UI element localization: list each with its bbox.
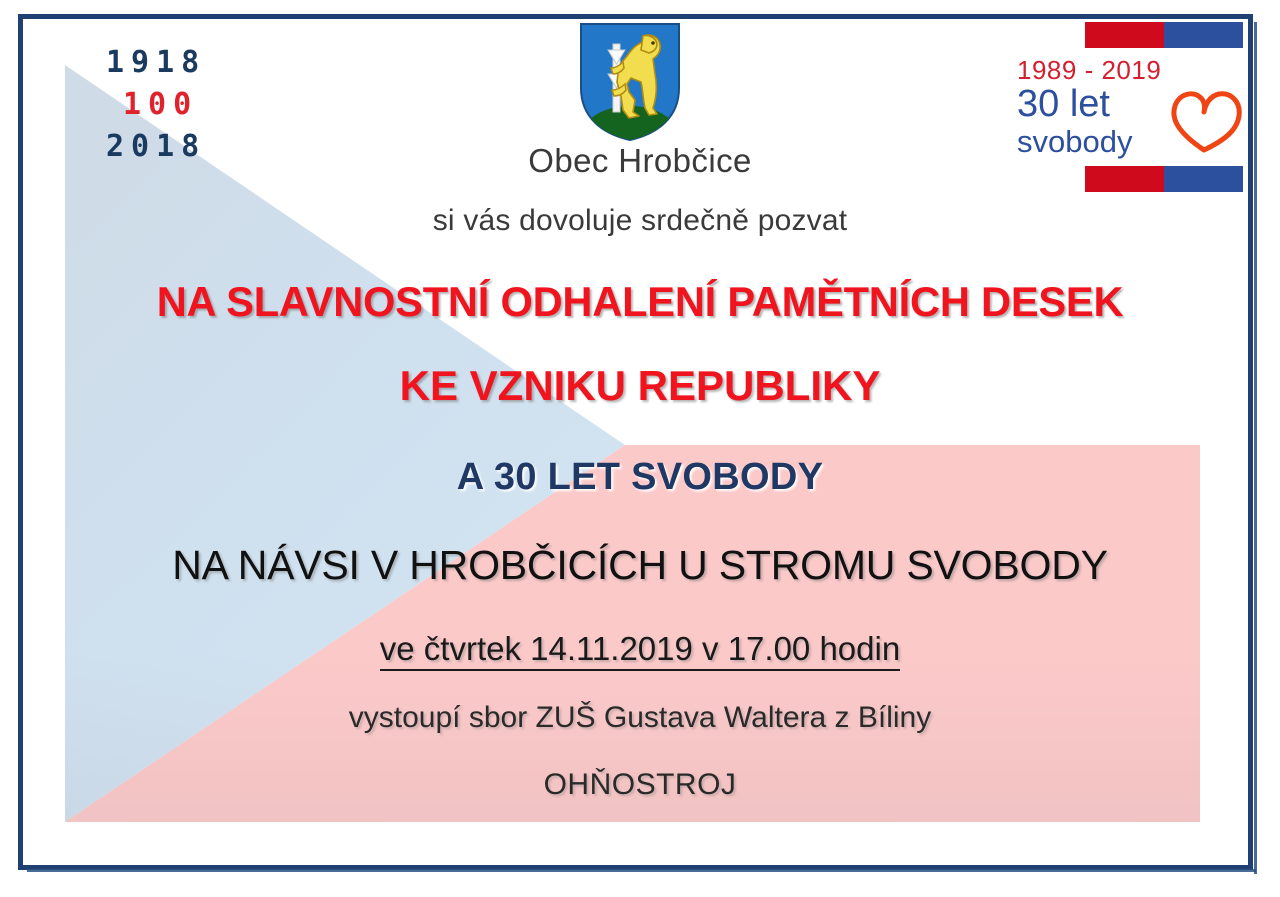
performance-line: vystoupí sbor ZUŠ Gustava Waltera z Bíli…: [0, 701, 1280, 735]
fireworks-line: OHŇOSTROJ: [0, 768, 1280, 802]
place-line: NA NÁVSI V HROBČICÍCH U STROMU SVOBODY: [0, 542, 1280, 589]
headline-red-line-1: NA SLAVNOSTNÍ ODHALENÍ PAMĚTNÍCH DESEK: [6, 278, 1273, 326]
bar-blue-half: [1164, 22, 1243, 48]
organizer-line: Obec Hrobčice: [0, 142, 1280, 180]
datetime-underlined-text: ve čtvrtek 14.11.2019 v 17.00 hodin: [380, 630, 900, 671]
coat-of-arms-icon: [577, 22, 683, 142]
headline-red-line-2: KE VZNIKU REPUBLIKY: [0, 362, 1280, 410]
bar-red-half: [1085, 22, 1164, 48]
centenary-year-from: 1918: [106, 42, 236, 84]
freedom-logo-headline: 30 let: [1017, 84, 1110, 124]
freedom-logo-bar-top: [1085, 22, 1243, 48]
poster: 1918 100 2018: [0, 0, 1280, 897]
poster-content: 1918 100 2018: [0, 0, 1280, 897]
datetime-line: ve čtvrtek 14.11.2019 v 17.00 hodin: [0, 630, 1280, 668]
invitation-line: si vás dovoluje srdečně pozvat: [0, 204, 1280, 238]
headline-navy-line: A 30 LET SVOBODY: [0, 456, 1280, 499]
freedom-logo-years: 1989 - 2019: [1017, 55, 1243, 86]
centenary-number: 100: [106, 84, 236, 126]
